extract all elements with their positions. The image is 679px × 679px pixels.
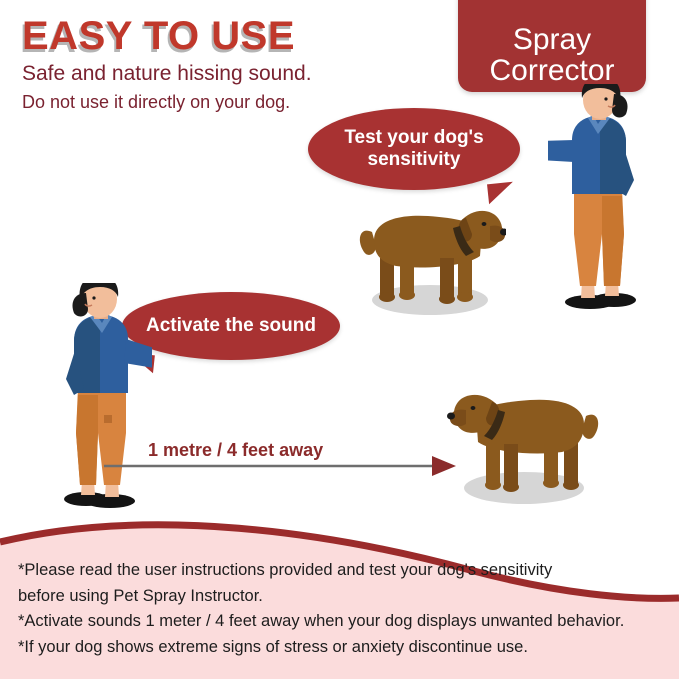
person-icon-right [548, 84, 658, 310]
footer-line-1: *Please read the user instructions provi… [18, 558, 668, 584]
footer-line-4: *If your dog shows extreme signs of stre… [18, 635, 668, 661]
footer-line-2: before using Pet Spray Instructor. [18, 584, 668, 610]
infographic-poster: EASY TO USE Safe and nature hissing soun… [0, 0, 679, 679]
subtitle-secondary: Do not use it directly on your dog. [22, 93, 290, 113]
arrow-right-icon [104, 455, 456, 477]
bubble-test-line-2: sensitivity [368, 149, 461, 170]
product-name-label: Spray Corrector [489, 24, 614, 86]
badge-line-2: Corrector [489, 54, 614, 87]
dog-icon-top [356, 196, 506, 318]
speech-bubble-test-sensitivity: Test your dog's sensitivity [308, 108, 520, 190]
speech-bubble-test-text: Test your dog's sensitivity [344, 127, 483, 172]
subtitle-primary: Safe and nature hissing sound. [22, 62, 312, 85]
product-name-badge: Spray Corrector [458, 0, 646, 92]
dog-icon-bottom [442, 380, 602, 508]
speech-bubble-activate-sound: Activate the sound [122, 292, 340, 360]
bubble-test-line-1: Test your dog's [344, 127, 483, 148]
page-title: EASY TO USE [22, 16, 295, 56]
footer-line-3: *Activate sounds 1 meter / 4 feet away w… [18, 609, 668, 635]
footer-disclaimer: *Please read the user instructions provi… [18, 558, 668, 660]
badge-line-1: Spray [513, 23, 591, 56]
speech-bubble-activate-text: Activate the sound [146, 315, 316, 337]
